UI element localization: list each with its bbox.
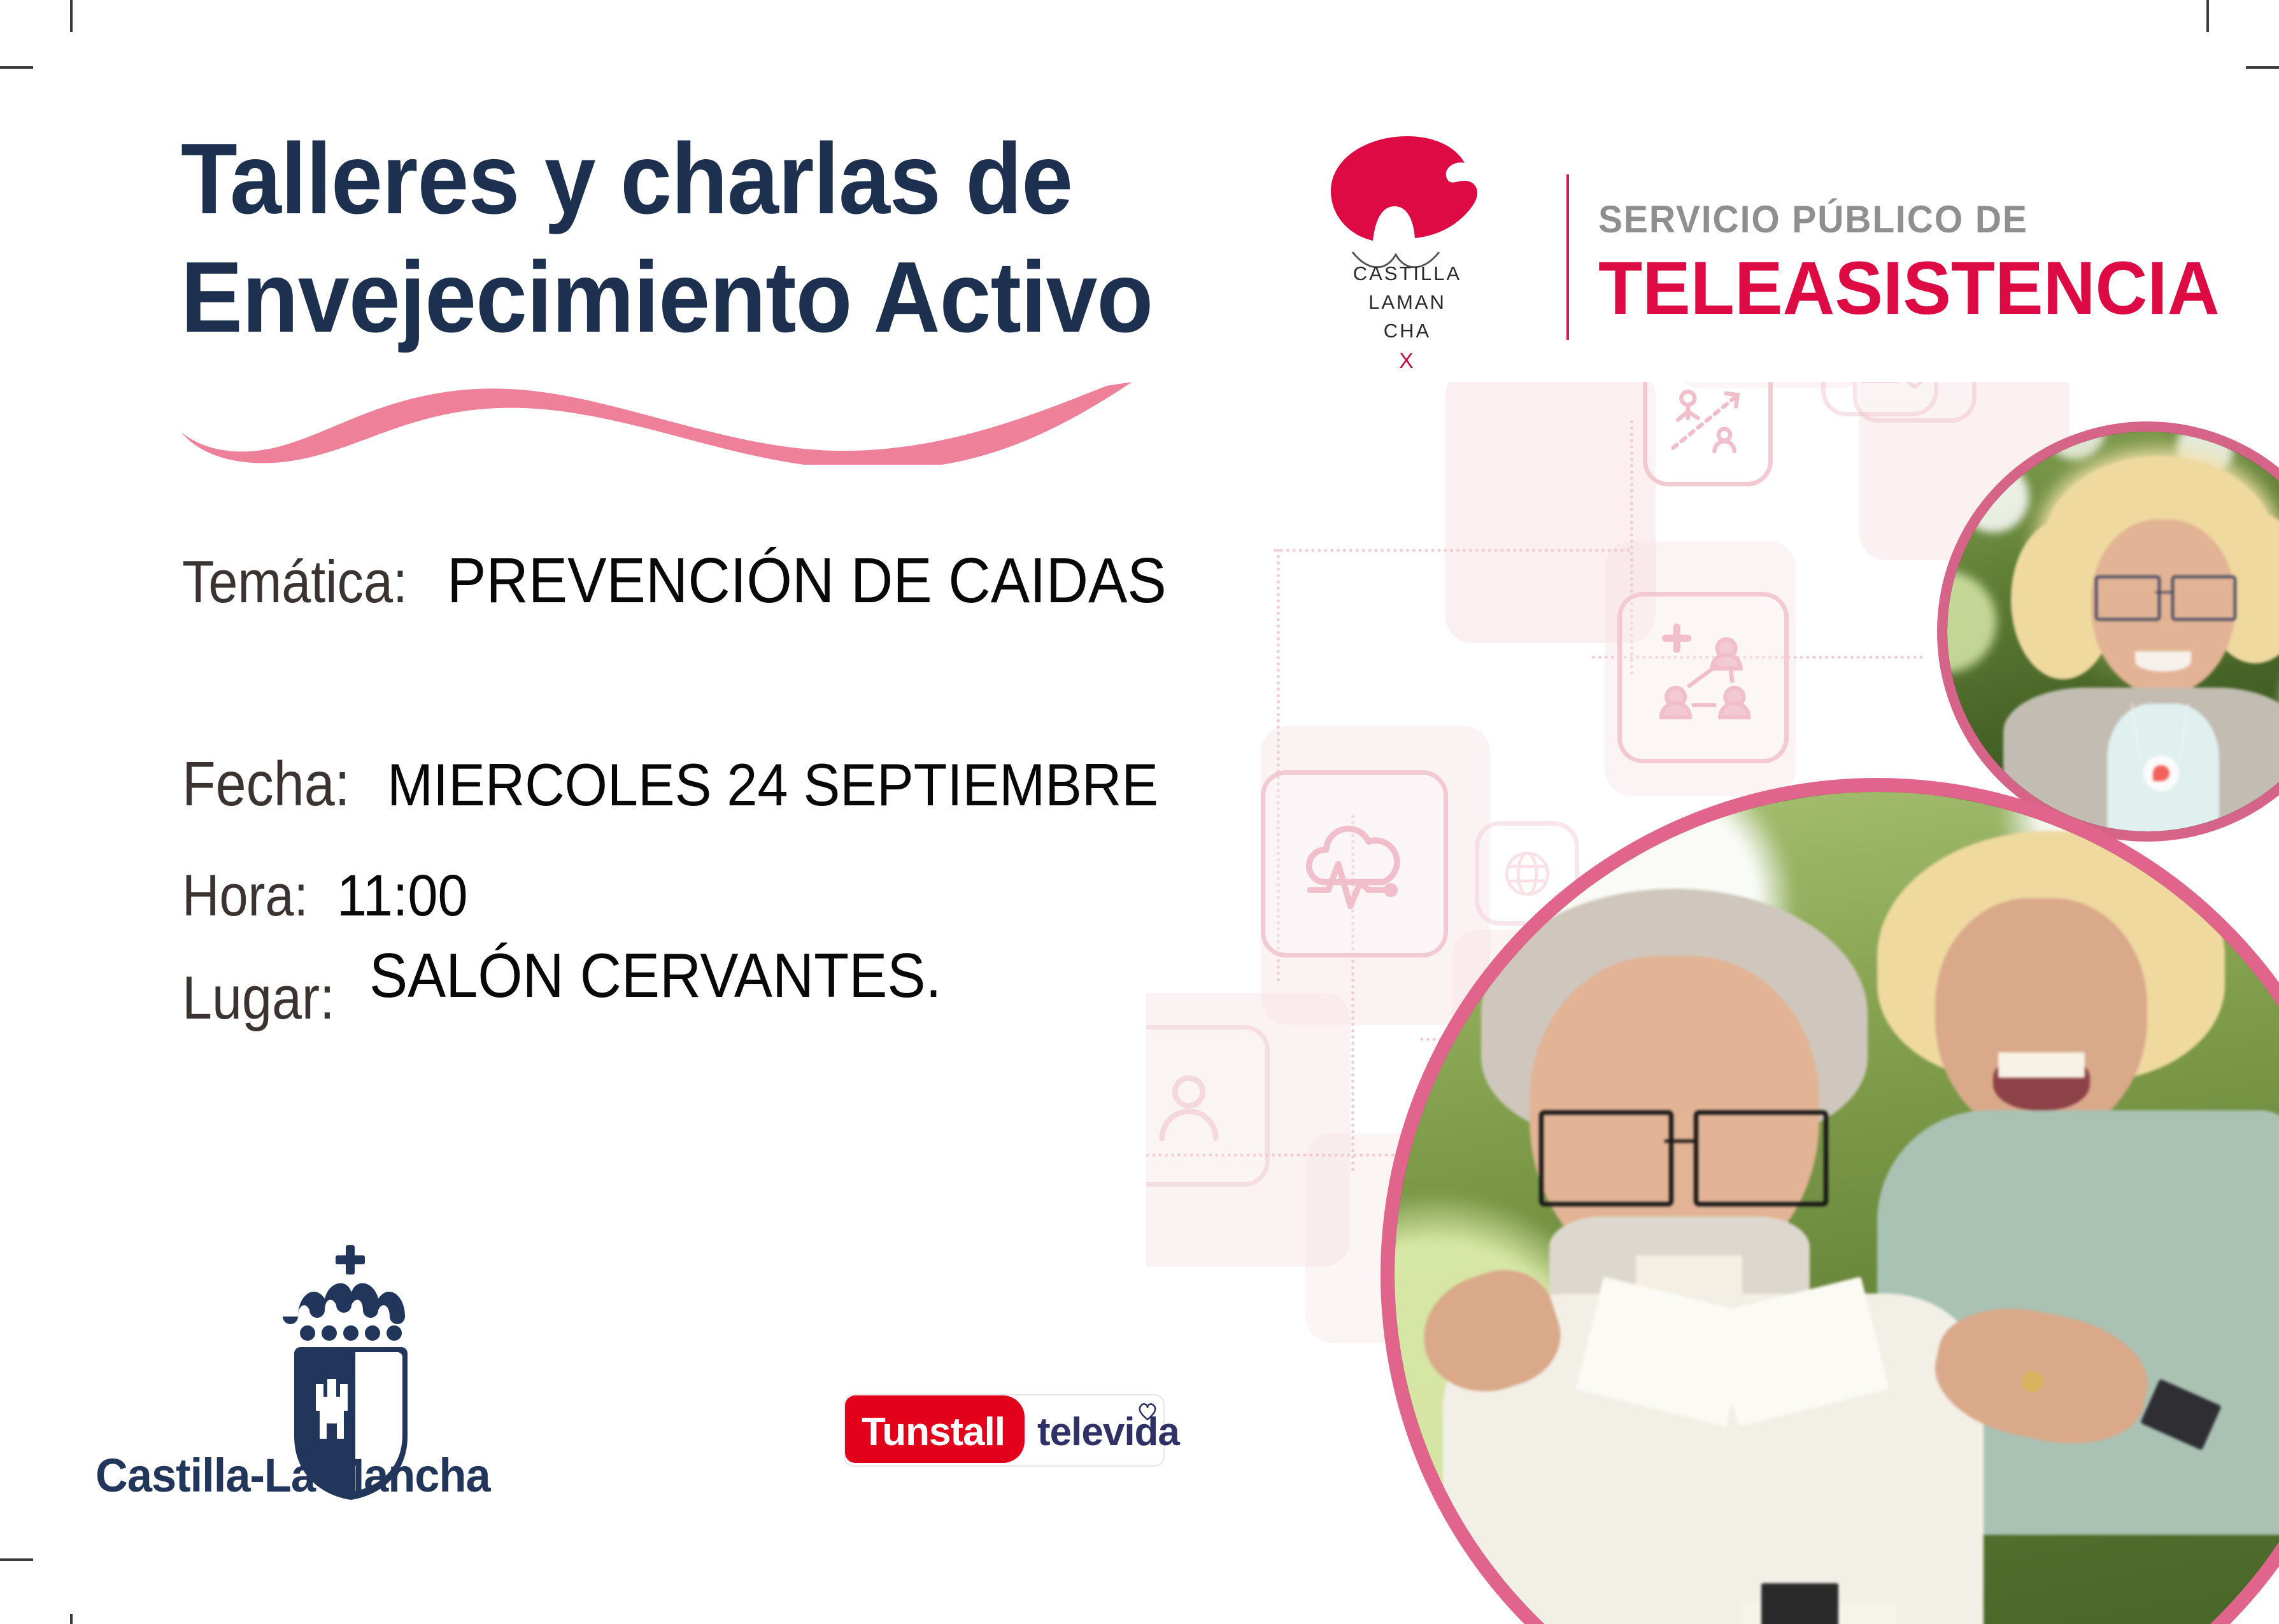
user-card-icon bbox=[1146, 1025, 1270, 1187]
people-network-icon bbox=[1617, 592, 1789, 763]
crop-mark-top-right-vertical bbox=[2206, 0, 2209, 32]
brush-underline-decoration bbox=[177, 382, 1145, 465]
hora-value: 11:00 bbox=[337, 863, 468, 929]
heart-person-icon bbox=[1853, 382, 1977, 423]
tematica-label: Temática: bbox=[182, 547, 408, 616]
photo-senior-woman bbox=[1937, 421, 2279, 842]
detail-row-lugar: Lugar:SALÓN CERVANTES. bbox=[182, 961, 991, 1033]
mark-text-line-4: X bbox=[1312, 346, 1503, 377]
crop-mark-bottom-left-horizontal bbox=[0, 1558, 33, 1561]
castilla-la-mancha-wordmark: Castilla-La Mancha bbox=[96, 1448, 490, 1502]
mark-text-line-2: LAMAN bbox=[1312, 288, 1503, 317]
hora-label: Hora: bbox=[182, 863, 308, 929]
headline-line-1: Talleres y charlas de bbox=[181, 123, 1072, 235]
teleasistencia-subtitle: SERVICIO PÚBLICO DE bbox=[1598, 197, 2213, 241]
activity-arrow-icon bbox=[1643, 382, 1773, 486]
detail-row-tematica: Temática:PREVENCIÓN DE CAIDAS bbox=[182, 544, 1229, 618]
teleasistencia-text-block: SERVICIO PÚBLICO DE TELEASISTENCIA bbox=[1598, 197, 2245, 332]
tematica-value: PREVENCIÓN DE CAIDAS bbox=[447, 544, 1167, 618]
page-title: Talleres y charlas de Envejecimiento Act… bbox=[181, 120, 1200, 357]
detail-row-fecha: Fecha:MIERCOLES 24 SEPTIEMBRE bbox=[182, 748, 1225, 820]
photo-senior-couple bbox=[1381, 778, 2279, 1624]
heart-icon bbox=[1137, 1401, 1158, 1422]
mobile-pulse-icon bbox=[1821, 382, 1938, 416]
fecha-value: MIERCOLES 24 SEPTIEMBRE bbox=[387, 751, 1158, 819]
fecha-label: Fecha: bbox=[182, 748, 350, 820]
logo-divider bbox=[1566, 174, 1569, 340]
headline-line-2: Envejecimiento Activo bbox=[181, 238, 1200, 357]
detail-row-hora: Hora:11:00 bbox=[182, 863, 479, 929]
crop-mark-top-left-horizontal bbox=[0, 66, 33, 69]
teleasistencia-title: TELEASISTENCIA bbox=[1598, 245, 2220, 332]
crop-mark-top-right-horizontal bbox=[2246, 66, 2279, 69]
lugar-value: SALÓN CERVANTES. bbox=[369, 940, 942, 1012]
crop-mark-bottom-left-vertical bbox=[70, 1614, 73, 1624]
crop-mark-top-left-vertical bbox=[70, 0, 73, 32]
tunstall-brand-text: Tunstall bbox=[862, 1409, 1005, 1455]
lugar-label: Lugar: bbox=[182, 963, 335, 1033]
mark-text-line-3: CHA bbox=[1312, 317, 1503, 346]
mark-text-line-1: CASTILLA bbox=[1312, 260, 1503, 288]
tunstall-televida-logo: Tunstall televida bbox=[844, 1394, 1165, 1467]
poster-canvas: Talleres y charlas de Envejecimiento Act… bbox=[0, 0, 2279, 1624]
castilla-la-mancha-mark-text: CASTILLA LAMAN CHA X bbox=[1312, 260, 1503, 377]
teleasistencia-logo: CASTILLA LAMAN CHA X SERVICIO PÚBLICO DE… bbox=[1312, 135, 2152, 364]
